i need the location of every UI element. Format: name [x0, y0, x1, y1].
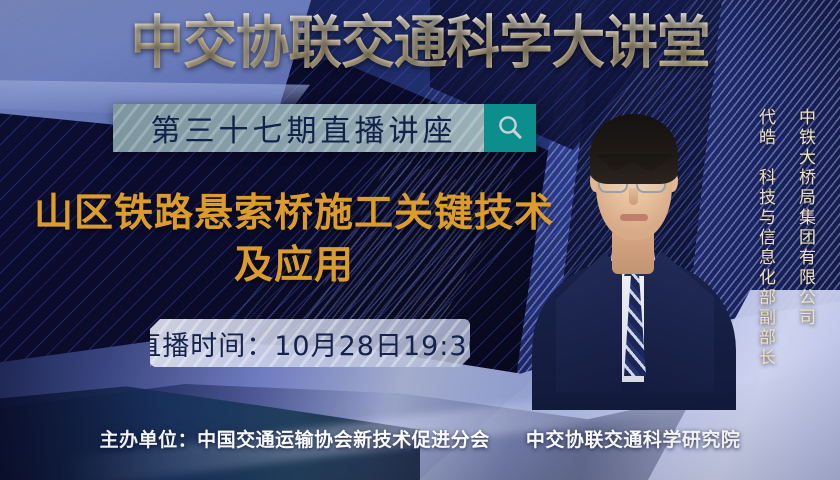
lecture-topic-line2: 及应用 [34, 240, 554, 292]
broadcast-time-badge: 直播时间：10月28日19:30 [150, 319, 470, 367]
speaker-company: 中铁大桥局集团有限公司 [793, 108, 816, 328]
speaker-name-title: 代皓 科技与信息化部副部长 [753, 108, 776, 368]
broadcast-time-text: 直播时间：10月28日19:30 [134, 324, 486, 363]
webinar-poster: 中交协联交通科学大讲堂 第三十七期直播讲座 山区铁路悬索桥施工关键技术 及应用 … [0, 0, 840, 480]
portrait-lapel-right [644, 252, 714, 392]
lecture-topic: 山区铁路悬索桥施工关键技术 及应用 [34, 188, 554, 292]
lecture-topic-line1: 山区铁路悬索桥施工关键技术 [34, 191, 554, 236]
portrait-mouth [620, 214, 648, 221]
organizer-secondary: 中交协联交通科学研究院 [526, 429, 741, 451]
organizer-primary: 主办单位：中国交通运输协会新技术促进分会 [100, 429, 490, 451]
session-subtitle-label: 第三十七期直播讲座 [113, 104, 484, 152]
portrait-nose [629, 188, 638, 205]
page-title: 中交协联交通科学大讲堂 [25, 12, 815, 74]
portrait-hair [590, 114, 678, 184]
organizer-line: 主办单位：中国交通运输协会新技术促进分会 中交协联交通科学研究院 [0, 425, 840, 452]
session-subtitle-bar: 第三十七期直播讲座 [113, 104, 536, 152]
portrait-lapel-left [556, 252, 622, 392]
search-icon-container[interactable] [484, 104, 536, 152]
speaker-portrait [548, 92, 718, 392]
search-icon [495, 113, 525, 143]
